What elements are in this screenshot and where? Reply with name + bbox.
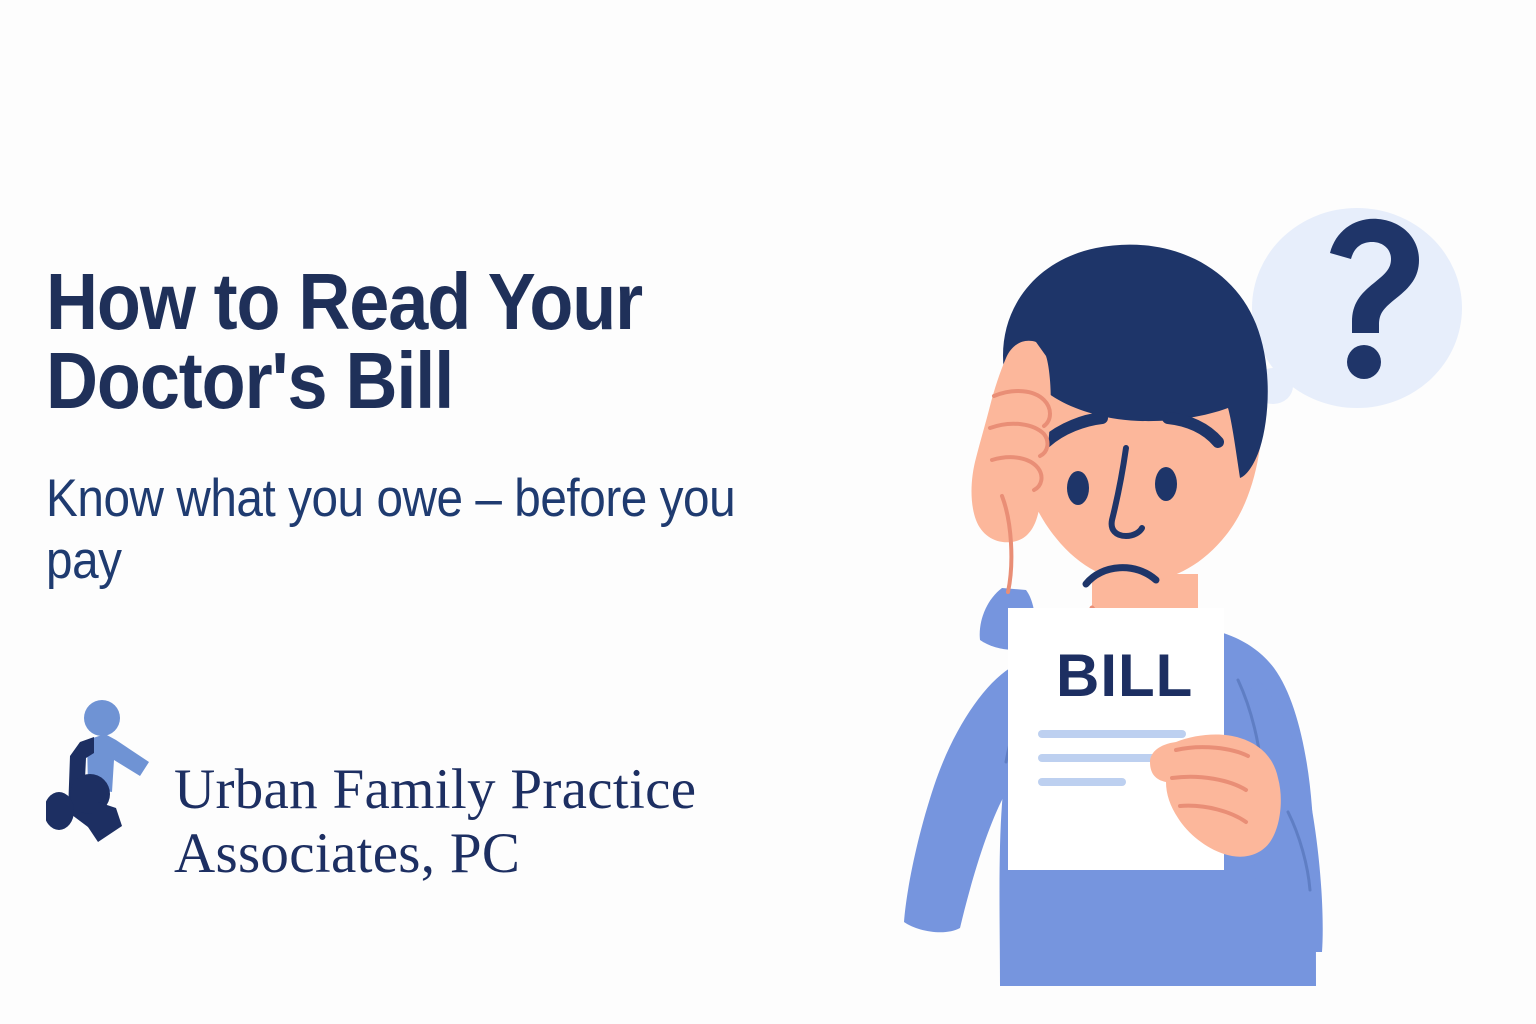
page-title: How to Read Your Doctor's Bill <box>46 262 802 420</box>
page-subtitle: Know what you owe – before you pay <box>46 420 802 592</box>
poster-canvas: How to Read Your Doctor's Bill Know what… <box>0 0 1536 1024</box>
logo-lockup: Urban Family Practice Associates, PC <box>46 690 696 886</box>
practice-logo-icon <box>46 696 164 844</box>
practice-name: Urban Family Practice Associates, PC <box>174 758 696 886</box>
text-column: How to Read Your Doctor's Bill Know what… <box>46 262 886 592</box>
bill-line-1 <box>1038 730 1186 738</box>
bill-document-title: BILL <box>1056 642 1193 709</box>
eye-left <box>1067 471 1089 505</box>
hero-illustration: BILL <box>790 196 1490 986</box>
eye-right <box>1155 467 1177 501</box>
bill-line-3 <box>1038 778 1126 786</box>
